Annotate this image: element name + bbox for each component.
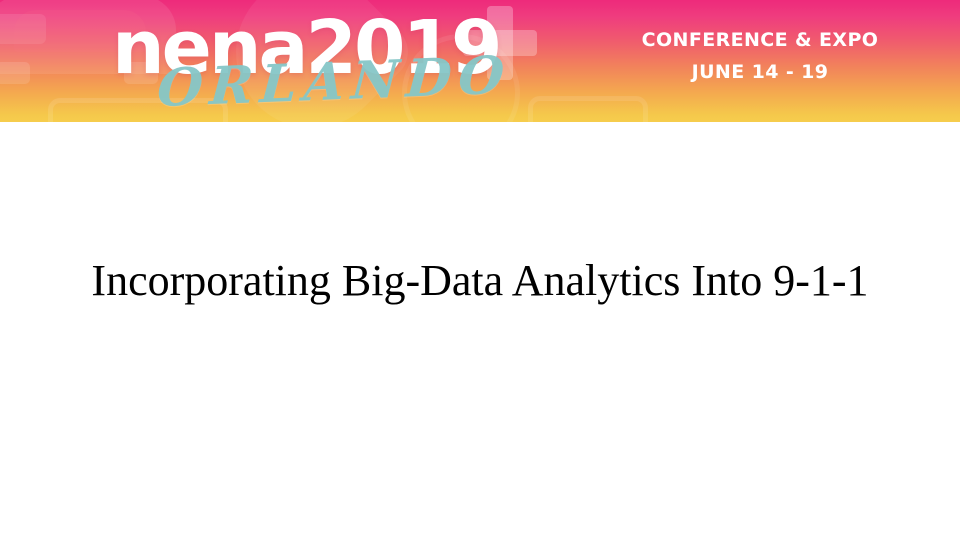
nena-conference-banner: nena2019 ORLANDO CONFERENCE & EXPO JUNE … [0, 0, 960, 122]
conference-details: CONFERENCE & EXPO JUNE 14 - 19 [600, 28, 920, 84]
conference-expo-label: CONFERENCE & EXPO [600, 28, 920, 52]
orlando-script-wordmark: ORLANDO [155, 46, 480, 119]
conference-dates-label: JUNE 14 - 19 [600, 60, 920, 84]
slide-title-block: Incorporating Big-Data Analytics Into 9-… [30, 252, 930, 309]
ambulance-lamp-left-icon [0, 62, 30, 84]
presentation-slide: nena2019 ORLANDO CONFERENCE & EXPO JUNE … [0, 0, 960, 540]
watermark-box-icon [528, 96, 648, 122]
page-title: Incorporating Big-Data Analytics Into 9-… [30, 252, 930, 309]
